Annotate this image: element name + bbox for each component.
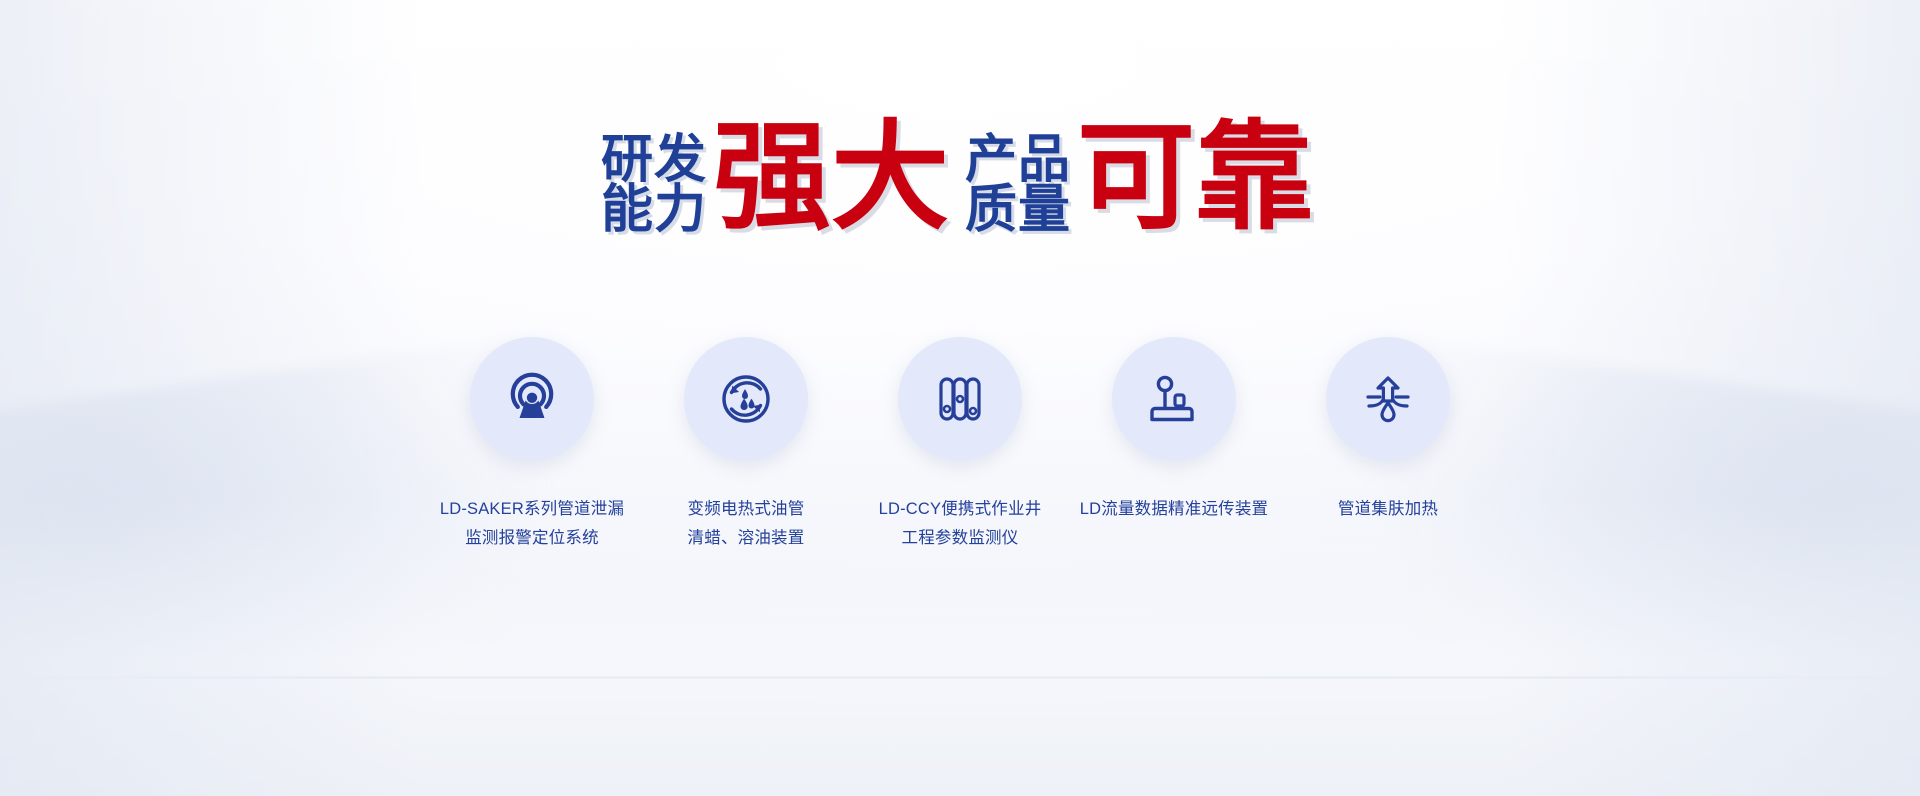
product-caption-line1: 管道集肤加热 bbox=[1338, 495, 1438, 524]
product-caption: LD-CCY便携式作业井 工程参数监测仪 bbox=[879, 495, 1042, 553]
sensor-bars-icon bbox=[928, 367, 992, 431]
product-caption: LD-SAKER系列管道泄漏 监测报警定位系统 bbox=[440, 495, 624, 553]
product-caption-line2: 监测报警定位系统 bbox=[440, 524, 624, 553]
pipeline-heating-icon bbox=[1356, 367, 1420, 431]
product-icon-badge bbox=[470, 337, 594, 461]
product-icon-badge bbox=[1112, 337, 1236, 461]
product-caption: LD流量数据精准远传装置 bbox=[1080, 495, 1269, 524]
product-icon-badge bbox=[1326, 337, 1450, 461]
headline-accent-strong: 强大 bbox=[713, 122, 949, 235]
product-item[interactable]: 变频电热式油管 清蜡、溶油装置 bbox=[639, 337, 853, 553]
headline-quality-line2: 质量 bbox=[965, 186, 1071, 236]
signal-antenna-icon bbox=[500, 367, 564, 431]
product-caption-line1: LD-CCY便携式作业井 bbox=[879, 495, 1042, 524]
headline: 研发 能力 强大 产品 质量 可靠 bbox=[0, 128, 1920, 236]
product-caption-line2: 工程参数监测仪 bbox=[879, 524, 1042, 553]
flow-meter-icon bbox=[1142, 367, 1206, 431]
headline-rd-line1: 研发 bbox=[601, 136, 707, 186]
headline-rd-line2: 能力 bbox=[601, 186, 707, 236]
headline-group-rd: 研发 能力 bbox=[601, 128, 707, 236]
product-item[interactable]: LD流量数据精准远传装置 bbox=[1067, 337, 1281, 524]
product-icon-badge bbox=[898, 337, 1022, 461]
product-caption-line1: LD-SAKER系列管道泄漏 bbox=[440, 495, 624, 524]
product-caption-line1: LD流量数据精准远传装置 bbox=[1080, 495, 1269, 524]
headline-accent-reliable: 可靠 bbox=[1077, 122, 1313, 235]
product-item[interactable]: 管道集肤加热 bbox=[1281, 337, 1495, 524]
product-caption: 变频电热式油管 清蜡、溶油装置 bbox=[688, 495, 805, 553]
headline-group-quality: 产品 质量 bbox=[965, 128, 1071, 236]
product-item[interactable]: LD-SAKER系列管道泄漏 监测报警定位系统 bbox=[425, 337, 639, 553]
product-caption-line1: 变频电热式油管 bbox=[688, 495, 805, 524]
hero-banner: 研发 能力 强大 产品 质量 可靠 bbox=[0, 0, 1920, 796]
product-icon-badge bbox=[684, 337, 808, 461]
headline-quality-line1: 产品 bbox=[965, 136, 1071, 186]
product-item[interactable]: LD-CCY便携式作业井 工程参数监测仪 bbox=[853, 337, 1067, 553]
product-caption: 管道集肤加热 bbox=[1338, 495, 1438, 524]
water-drop-cycle-icon bbox=[714, 367, 778, 431]
product-caption-line2: 清蜡、溶油装置 bbox=[688, 524, 805, 553]
product-list: LD-SAKER系列管道泄漏 监测报警定位系统 bbox=[0, 337, 1920, 553]
